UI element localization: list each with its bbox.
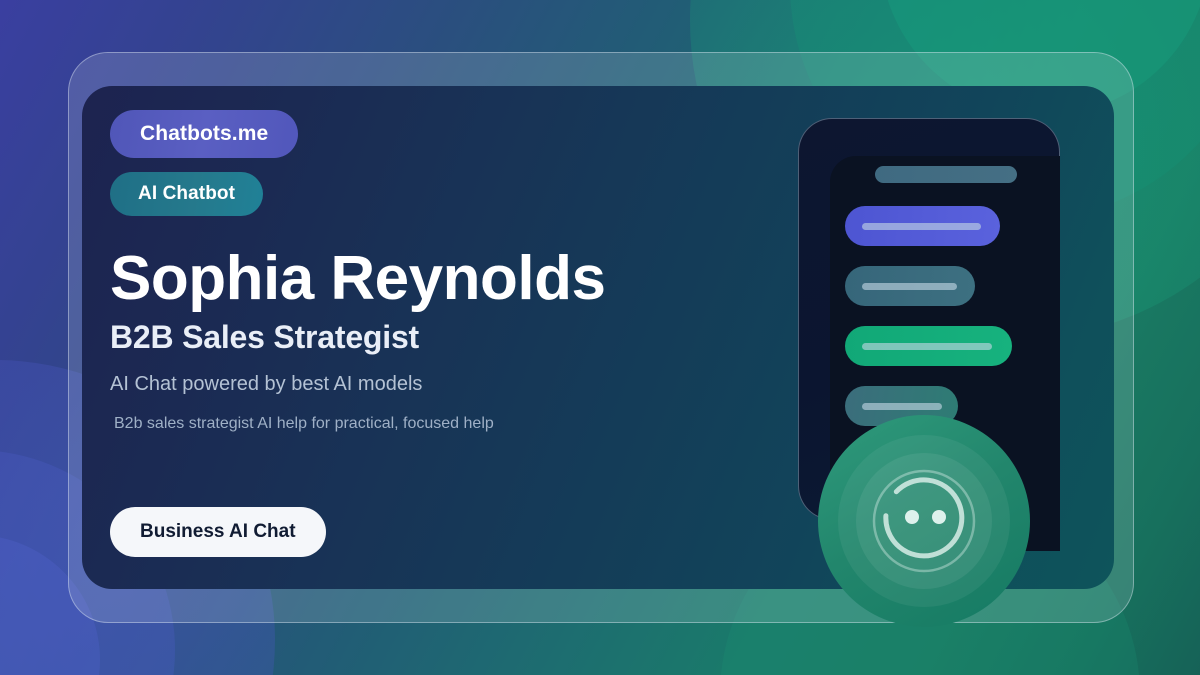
message-line — [862, 343, 992, 350]
message-bar-primary — [845, 206, 1000, 246]
hero-text-block: Chatbots.me AI Chatbot Sophia Reynolds B… — [110, 110, 750, 433]
message-line — [862, 403, 942, 410]
page-subtitle: B2B Sales Strategist — [110, 319, 750, 356]
avatar — [818, 415, 1030, 627]
smiley-face-icon — [864, 461, 984, 581]
message-line — [862, 283, 957, 290]
message-bar-accent — [845, 326, 1012, 366]
hero-description: B2b sales strategist AI help for practic… — [114, 415, 750, 433]
hero-tagline: AI Chat powered by best AI models — [110, 373, 750, 396]
hero-banner: Chatbots.me AI Chatbot Sophia Reynolds B… — [0, 0, 1200, 675]
page-title: Sophia Reynolds — [110, 247, 750, 311]
business-ai-chat-button[interactable]: Business AI Chat — [110, 507, 326, 557]
header-bar — [875, 166, 1017, 183]
message-bar-slate — [845, 266, 975, 306]
category-badge[interactable]: AI Chatbot — [110, 172, 263, 216]
brand-badge[interactable]: Chatbots.me — [110, 110, 298, 158]
message-line — [862, 223, 981, 230]
